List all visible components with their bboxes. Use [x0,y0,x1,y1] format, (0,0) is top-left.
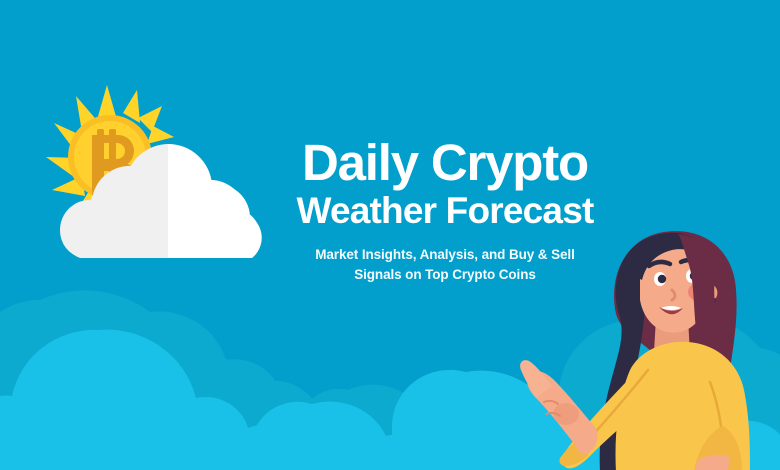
subtitle: Market Insights, Analysis, and Buy & Sel… [290,245,600,284]
bitcoin-sun-cloud-icon [40,80,290,270]
logo [40,80,290,270]
title-line-1: Daily Crypto [290,138,600,188]
title-line-2: Weather Forecast [290,192,600,229]
eye-left-pupil [658,275,666,283]
cloud-right-body [168,144,260,258]
subtitle-line-1: Market Insights, Analysis, and Buy & Sel… [315,247,574,262]
headline-block: Daily Crypto Weather Forecast Market Ins… [290,138,600,284]
daily-crypto-banner: Daily Crypto Weather Forecast Market Ins… [0,0,780,470]
subtitle-line-2: Signals on Top Crypto Coins [354,267,536,282]
